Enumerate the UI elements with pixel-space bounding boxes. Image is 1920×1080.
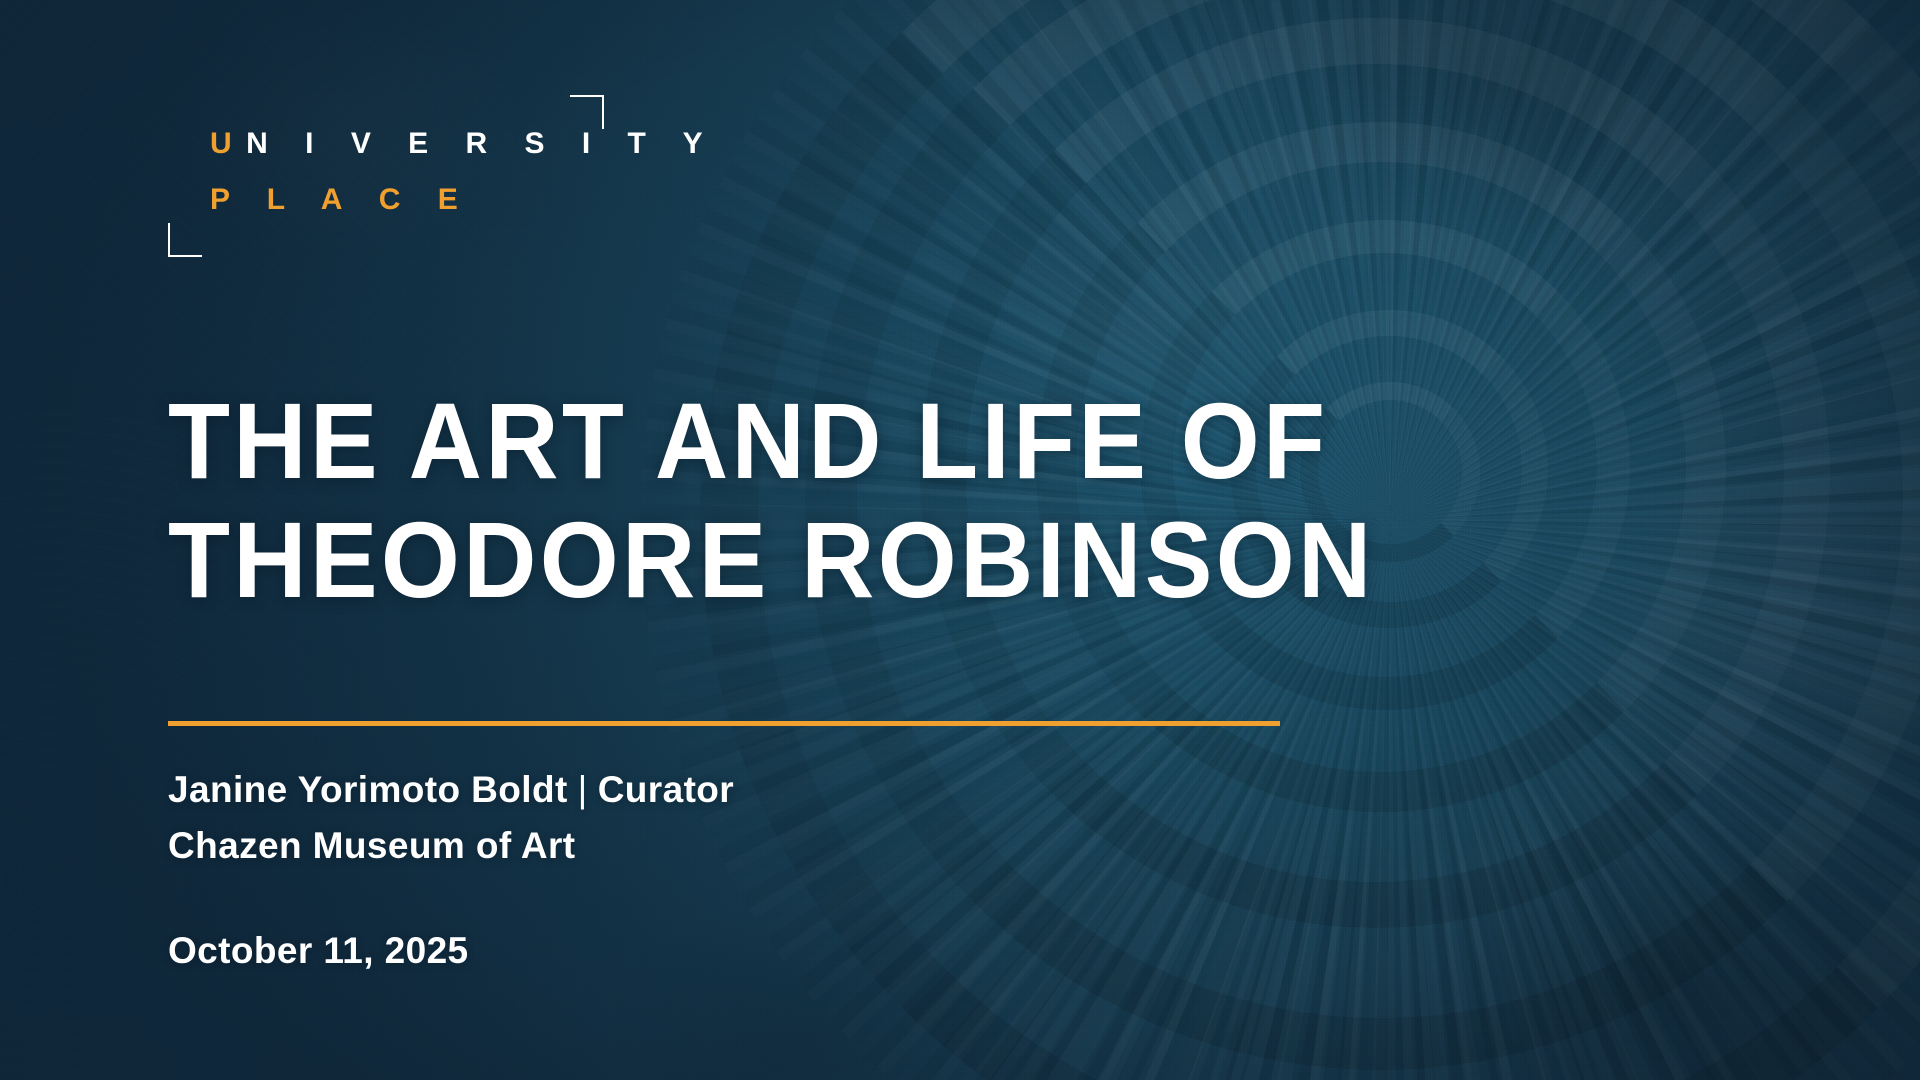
page-title: THE ART AND LIFE OF THEODORE ROBINSON — [168, 382, 1503, 620]
logo-line-university: UN I V E R S I T Y — [210, 129, 717, 159]
presenter-credits: Janine Yorimoto Boldt|Curator Chazen Mus… — [168, 762, 734, 874]
page-title-line-2: THEODORE ROBINSON — [168, 501, 1503, 620]
corner-bracket-bottom-left-icon — [168, 223, 202, 257]
presenter-role: Curator — [598, 769, 734, 810]
logo-accent-letter: U — [210, 127, 246, 160]
slide-content: UN I V E R S I T Y P L A C E THE ART AND… — [0, 0, 1920, 1080]
logo-word-remainder: N I V E R S I T Y — [246, 127, 717, 160]
accent-divider — [168, 721, 1280, 726]
page-title-line-1: THE ART AND LIFE OF — [168, 382, 1503, 501]
presenter-affiliation: Chazen Museum of Art — [168, 818, 734, 874]
event-date: October 11, 2025 — [168, 930, 469, 972]
presenter-name: Janine Yorimoto Boldt — [168, 769, 568, 810]
presenter-separator: | — [568, 769, 598, 810]
title-slide: UN I V E R S I T Y P L A C E THE ART AND… — [0, 0, 1920, 1080]
corner-bracket-top-right-icon — [570, 95, 604, 129]
presenter-name-line: Janine Yorimoto Boldt|Curator — [168, 762, 734, 818]
logo-line-place: P L A C E — [210, 185, 472, 215]
university-place-logo: UN I V E R S I T Y P L A C E — [168, 95, 604, 257]
